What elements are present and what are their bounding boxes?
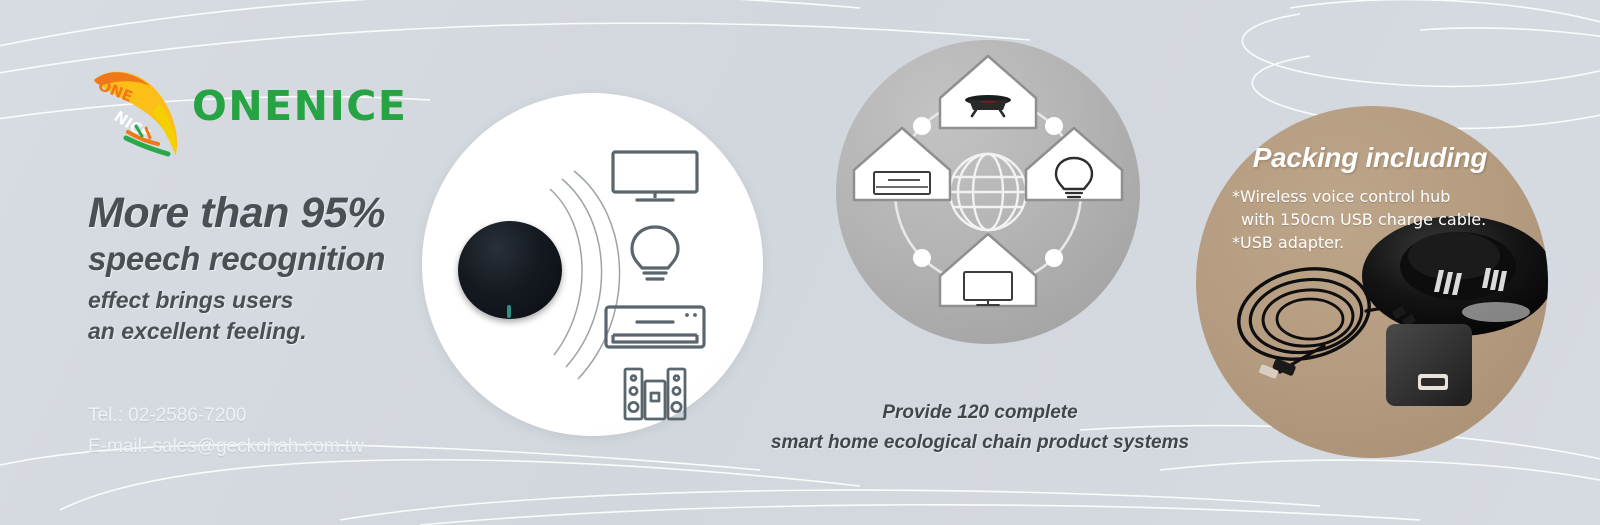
house-tv-icon [940,234,1036,306]
controlled-devices-list [590,148,720,438]
packing-items: *Wireless voice control hub with 150cm U… [1232,185,1562,254]
house-lightbulb-icon [1026,128,1122,200]
house-drone-icon [940,56,1036,128]
stereo-speaker-icon [623,367,687,421]
brand-wordmark: ONENICE [192,82,407,130]
globe-icon [950,154,1026,230]
house-air-conditioner-icon [854,128,950,200]
brand-logo[interactable]: ONE NICE ONENICE [80,58,380,168]
packing-item-3: *USB adapter. [1232,231,1562,254]
speech-recognition-circle [422,93,763,436]
packing-title: Packing including [1200,142,1540,174]
ecosystem-caption-line-2: smart home ecological chain product syst… [760,428,1200,458]
packing-item-1: *Wireless voice control hub [1232,185,1562,208]
ecosystem-caption: Provide 120 complete smart home ecologic… [760,398,1200,458]
ecosystem-diagram [836,40,1140,344]
onenice-ribbon-logo: ONE NICE [80,58,200,166]
promo-banner: ONE NICE ONENICE More than 95% speech re… [0,0,1600,525]
smart-home-ecosystem-circle [836,40,1140,344]
ecosystem-caption-line-1: Provide 120 complete [760,398,1200,428]
hub-led-indicator [507,305,511,318]
lightbulb-icon [627,223,683,287]
packing-item-2: with 150cm USB charge cable. [1232,208,1562,231]
tv-icon [609,148,701,206]
air-conditioner-icon [603,304,707,350]
